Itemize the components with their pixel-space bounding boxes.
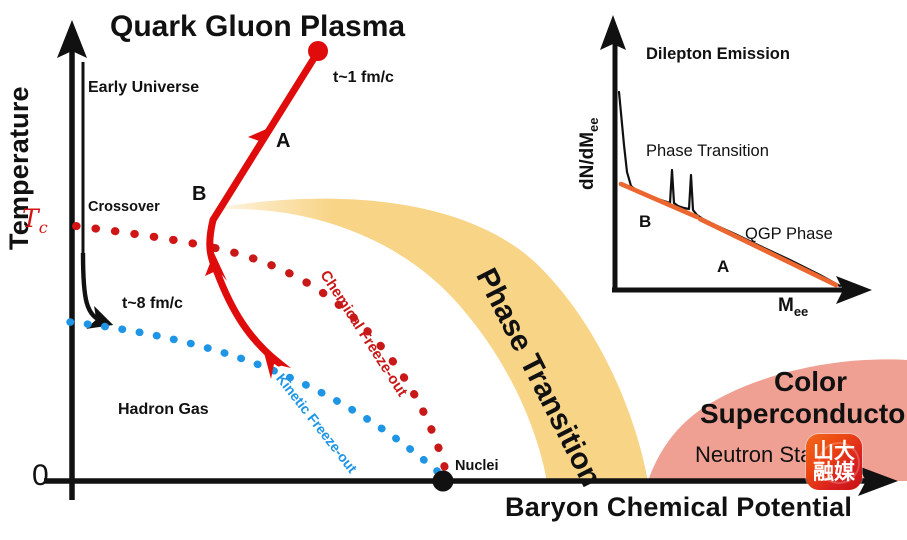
logo-chars-top: 山大 (813, 441, 855, 462)
label-color-superconductor-line2: Superconductor (700, 400, 905, 428)
y-tick-tc: Tc (22, 206, 48, 236)
label-neutron-star: Neutron Star (695, 444, 820, 466)
page-title: Quark Gluon Plasma (110, 12, 405, 42)
nuclei-point (433, 471, 454, 492)
label-time-late: t~8 fm/c (122, 296, 183, 312)
label-time-early: t~1 fm/c (333, 70, 394, 86)
y-tick-zero: 0 (32, 461, 49, 491)
inset-label-marker-b: B (639, 213, 651, 230)
label-crossover: Crossover (88, 200, 160, 215)
inset-label-qgp-phase: QGP Phase (745, 226, 833, 243)
inset-label-marker-a: A (717, 258, 729, 275)
label-nuclei: Nuclei (455, 459, 499, 474)
label-color-superconductor-line1: Color (718, 368, 903, 396)
logo-glyphs: 山大 融媒 (806, 434, 862, 490)
logo-chars-bottom: 融媒 (813, 462, 855, 483)
inset-title: Dilepton Emission (646, 46, 790, 63)
x-axis-title: Baryon Chemical Potential (505, 494, 852, 521)
inset-label-phase-transition: Phase Transition (646, 143, 769, 160)
label-marker-a: A (276, 131, 290, 151)
label-early-universe: Early Universe (88, 80, 199, 96)
shanda-rongmei-logo: 山大 融媒 (806, 434, 862, 490)
label-hadron-gas: Hadron Gas (118, 402, 209, 418)
label-marker-b: B (192, 184, 206, 204)
qcd-phase-diagram-figure: Quark Gluon Plasma Temperature Baryon Ch… (0, 0, 907, 540)
inset-y-axis-title: dN/dMee (578, 117, 600, 190)
early-universe-line (83, 62, 104, 322)
inset-x-axis-title: Mee (778, 296, 808, 318)
